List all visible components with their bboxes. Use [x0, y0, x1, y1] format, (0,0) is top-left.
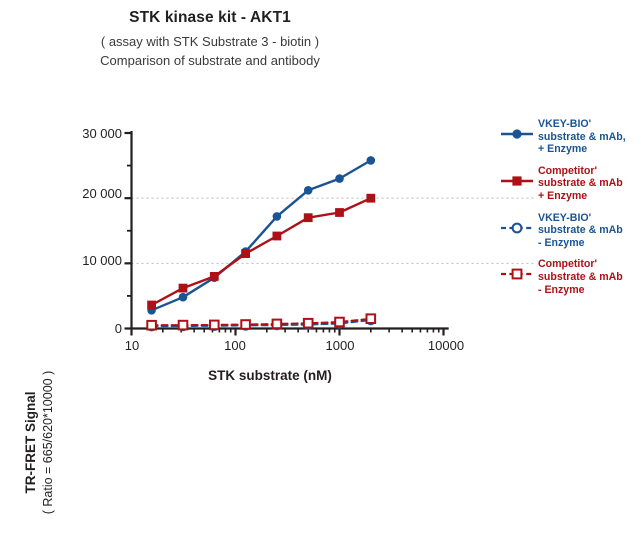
- legend-marker-open-circle-icon: [500, 222, 534, 234]
- legend-marker-open-square-icon: [500, 268, 534, 280]
- legend-label-line1: Competitor': [538, 258, 641, 271]
- data-series-group: [147, 156, 375, 330]
- legend-label-line3: - Enzyme: [538, 237, 641, 250]
- legend-item[interactable]: Competitor' substrate & mAb - Enzyme: [500, 258, 641, 296]
- legend-label-line2: substrate & mAb: [538, 271, 641, 284]
- legend-label-line1: VKEY-BIO': [538, 212, 641, 225]
- legend-item[interactable]: Competitor' substrate & mAb + Enzyme: [500, 165, 641, 203]
- legend-label-line2: substrate & mAb,: [538, 131, 641, 144]
- legend-item[interactable]: VKEY-BIO' substrate & mAb, + Enzyme: [500, 118, 641, 156]
- legend: VKEY-BIO' substrate & mAb, + Enzyme Comp…: [500, 118, 641, 305]
- legend-label-line3: - Enzyme: [538, 284, 641, 297]
- chart-figure: STK kinase kit - AKT1 ( assay with STK S…: [0, 0, 641, 405]
- legend-label-line3: + Enzyme: [538, 190, 641, 203]
- gridlines: [132, 198, 536, 263]
- legend-item[interactable]: VKEY-BIO' substrate & mAb - Enzyme: [500, 212, 641, 250]
- legend-marker-filled-square-icon: [500, 175, 534, 187]
- legend-label-line3: + Enzyme: [538, 143, 641, 156]
- legend-label-line2: substrate & mAb: [538, 224, 641, 237]
- axis-lines: [125, 131, 449, 336]
- legend-label-line1: Competitor': [538, 165, 641, 178]
- legend-marker-filled-circle-icon: [500, 128, 534, 140]
- legend-label-line2: substrate & mAb: [538, 177, 641, 190]
- legend-label-line1: VKEY-BIO': [538, 118, 641, 131]
